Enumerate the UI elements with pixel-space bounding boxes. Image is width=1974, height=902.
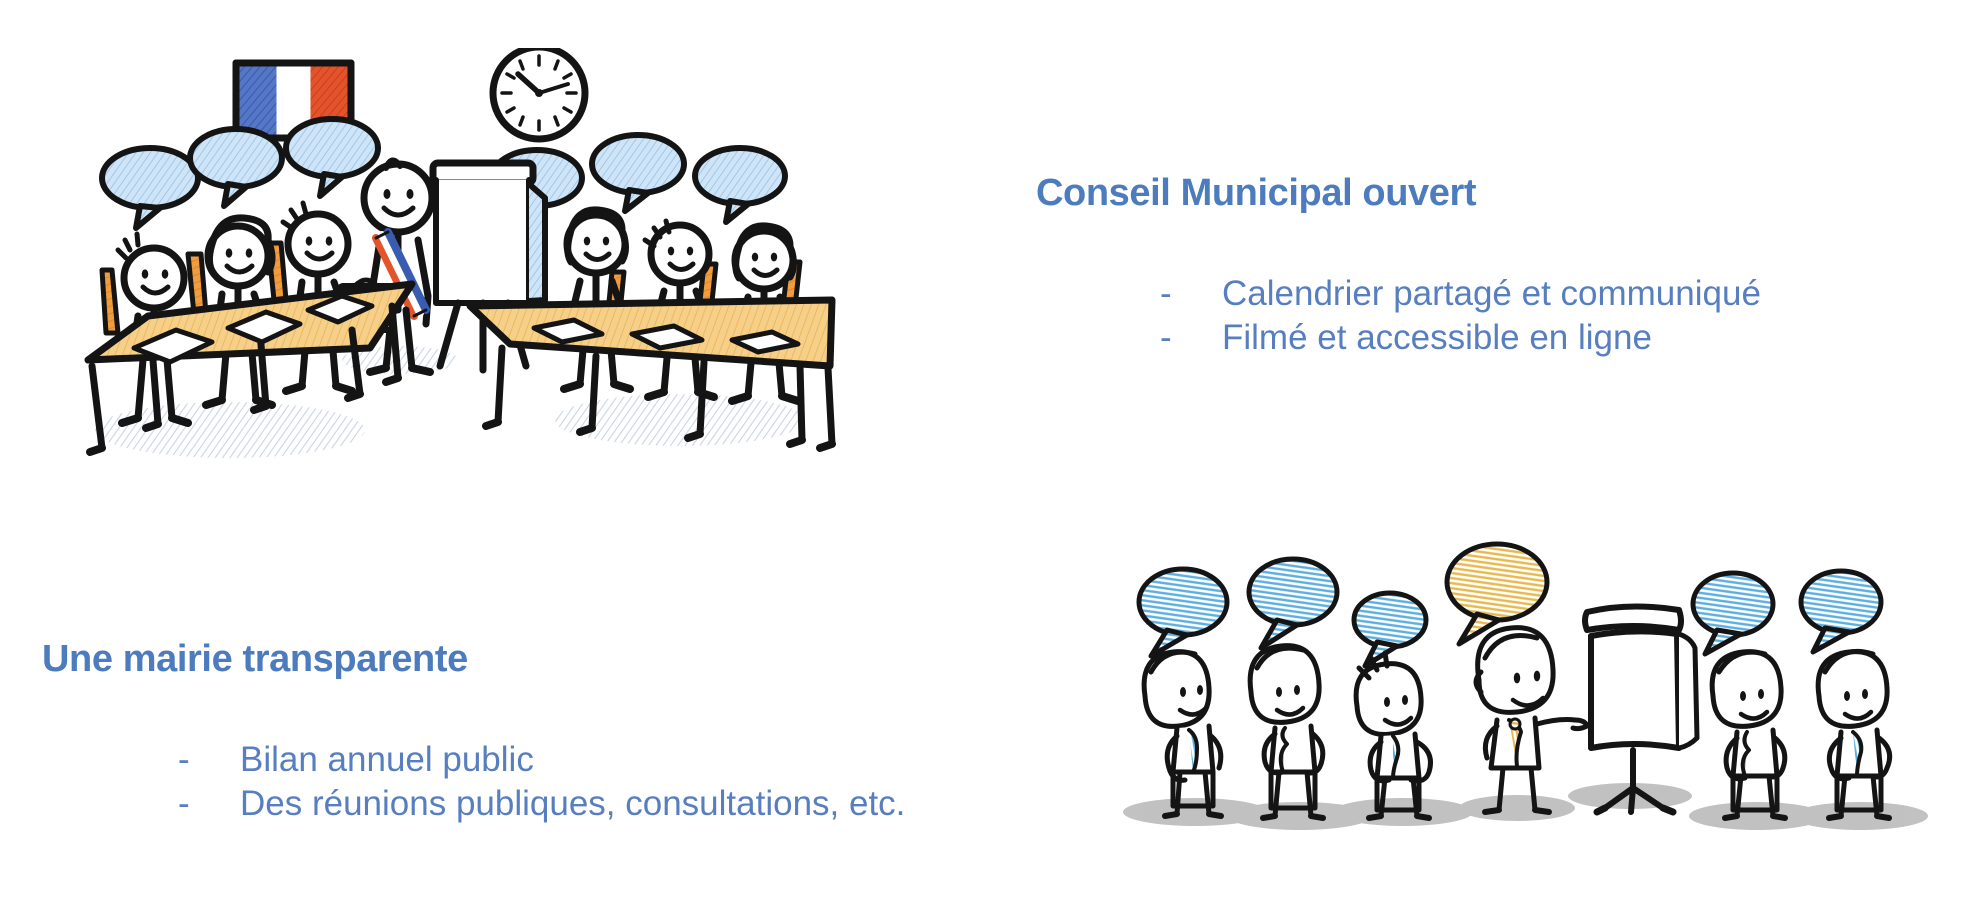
bullet-dash-icon: - bbox=[178, 738, 240, 782]
bullets-mairie-transparente: - Bilan annuel public - Des réunions pub… bbox=[178, 738, 905, 826]
bullet-dash-icon: - bbox=[1160, 316, 1222, 360]
list-item: - Calendrier partagé et communiqué bbox=[1160, 272, 1761, 316]
list-item: - Bilan annuel public bbox=[178, 738, 905, 782]
bullet-label: Des réunions publiques, consultations, e… bbox=[240, 782, 905, 826]
speech-bubble bbox=[1139, 569, 1227, 656]
person-figure bbox=[1356, 653, 1430, 818]
speech-bubble bbox=[1354, 593, 1426, 666]
bullet-dash-icon: - bbox=[178, 782, 240, 826]
flipchart-easel bbox=[1585, 606, 1697, 812]
list-item: - Des réunions publiques, consultations,… bbox=[178, 782, 905, 826]
chair bbox=[102, 270, 118, 333]
speech-bubble bbox=[1693, 573, 1773, 654]
wall-clock-icon bbox=[493, 48, 585, 139]
presenter-figure bbox=[1476, 628, 1587, 812]
speech-bubble bbox=[695, 148, 785, 222]
speech-bubble bbox=[190, 129, 282, 206]
council-meeting-illustration bbox=[40, 48, 950, 488]
bullet-label: Filmé et accessible en ligne bbox=[1222, 316, 1652, 360]
bullet-dash-icon: - bbox=[1160, 272, 1222, 316]
person-figure bbox=[1712, 652, 1785, 818]
list-item: - Filmé et accessible en ligne bbox=[1160, 316, 1761, 360]
speech-bubble bbox=[1801, 571, 1881, 652]
bullet-label: Bilan annuel public bbox=[240, 738, 534, 782]
speech-bubble bbox=[592, 135, 684, 211]
slide-root: Conseil Municipal ouvert - Calendrier pa… bbox=[0, 0, 1974, 902]
bullets-conseil-municipal: - Calendrier partagé et communiqué - Fil… bbox=[1160, 272, 1761, 360]
chair bbox=[188, 254, 206, 314]
person-figure bbox=[1144, 652, 1221, 816]
speech-bubble bbox=[1249, 559, 1337, 648]
person-figure bbox=[1250, 646, 1323, 818]
heading-mairie-transparente: Une mairie transparente bbox=[42, 638, 468, 681]
public-meeting-illustration bbox=[1085, 520, 1965, 880]
person-figure bbox=[1818, 651, 1890, 818]
heading-conseil-municipal: Conseil Municipal ouvert bbox=[1036, 172, 1476, 215]
bullet-label: Calendrier partagé et communiqué bbox=[1222, 272, 1761, 316]
speech-bubble bbox=[102, 148, 198, 228]
